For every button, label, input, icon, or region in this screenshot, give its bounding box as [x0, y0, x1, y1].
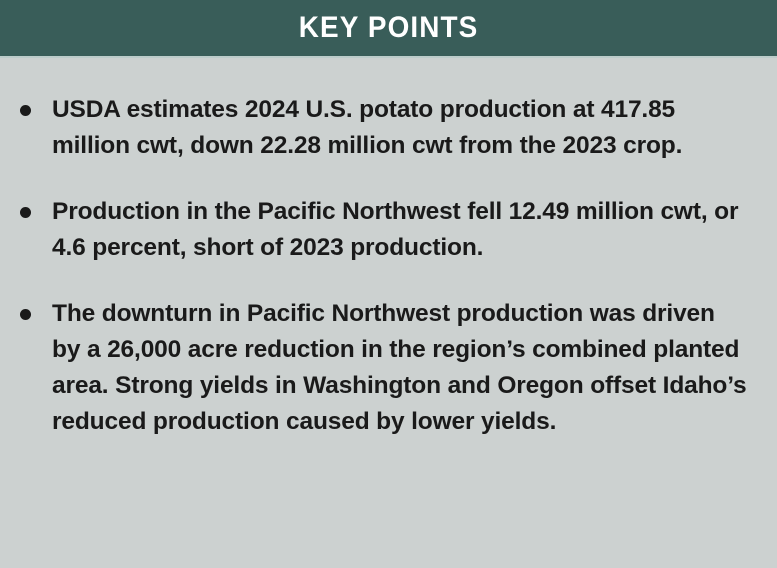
list-item-text: Production in the Pacific Northwest fell…: [52, 194, 747, 266]
list-item-text: USDA estimates 2024 U.S. potato producti…: [52, 92, 747, 164]
list-item-text: The downturn in Pacific Northwest produc…: [52, 296, 747, 440]
bullet-dot-icon: [20, 105, 31, 116]
bullet-dot-icon: [20, 309, 31, 320]
list-item: USDA estimates 2024 U.S. potato producti…: [14, 92, 747, 164]
key-points-list: USDA estimates 2024 U.S. potato producti…: [0, 58, 777, 568]
bullet-dot-icon: [20, 207, 31, 218]
list-item: The downturn in Pacific Northwest produc…: [14, 296, 747, 440]
key-points-header: KEY POINTS: [0, 0, 777, 58]
page-title: KEY POINTS: [299, 13, 479, 43]
key-points-panel: KEY POINTS USDA estimates 2024 U.S. pota…: [0, 0, 777, 568]
list-item: Production in the Pacific Northwest fell…: [14, 194, 747, 266]
